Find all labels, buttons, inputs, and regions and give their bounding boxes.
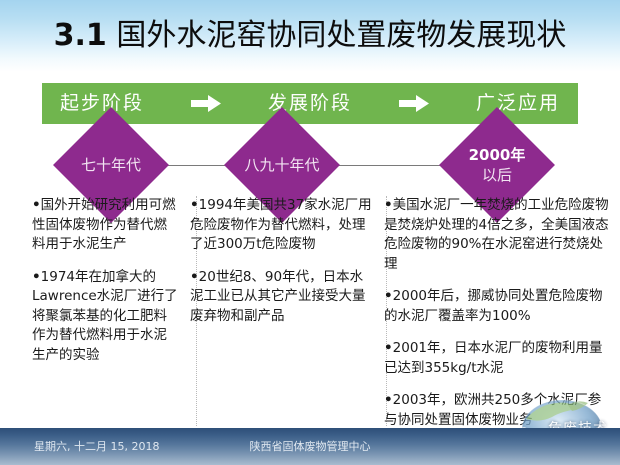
bullet-item: •2000年后，挪威协同处置危险废物的水泥厂覆盖率为100% bbox=[384, 287, 614, 326]
bullet-text: 1974年在加拿大的Lawrence水泥厂进行了将聚氯苯基的化工肥料作为替代燃料… bbox=[32, 269, 178, 363]
bullet-text: 20世纪8、90年代，日本水泥工业已从其它产业接受大量废弃物和副产品 bbox=[190, 269, 366, 324]
slide-canvas: 3.1 国外水泥窑协同处置废物发展现状 起步阶段 发展阶段 广泛应用 七十年代 … bbox=[0, 0, 620, 465]
bullet-text: 国外开始研究利用可燃性固体废物作为替代燃料用于水泥生产 bbox=[32, 197, 176, 252]
title-text: 国外水泥窑协同处置废物发展现状 bbox=[116, 18, 566, 53]
stage-label-1: 起步阶段 bbox=[60, 94, 144, 113]
bullet-item: •20世纪8、90年代，日本水泥工业已从其它产业接受大量废弃物和副产品 bbox=[190, 268, 376, 327]
bullet-text: 2000年后，挪威协同处置危险废物的水泥厂覆盖率为100% bbox=[384, 288, 603, 324]
timeline-connector bbox=[325, 165, 457, 166]
content-column-2: •1994年美国共37家水泥厂用危险废物作为替代燃料，处理了近300万t危险废物… bbox=[186, 196, 382, 432]
content-column-1: •国外开始研究利用可燃性固体废物作为替代燃料用于水泥生产 •1974年在加拿大的… bbox=[0, 196, 186, 432]
slide-footer: 星期六, 十二月 15, 2018 陕西省固体废物管理中心 bbox=[0, 428, 620, 465]
bullet-item: •1974年在加拿大的Lawrence水泥厂进行了将聚氯苯基的化工肥料作为替代燃… bbox=[32, 268, 180, 366]
bullet-text: 美国水泥厂一年焚烧的工业危险废物是焚烧炉处理的4倍之多，全美国液态危险废物的90… bbox=[384, 197, 609, 272]
timeline-node-2-label: 八九十年代 bbox=[230, 155, 334, 175]
footer-organization: 陕西省固体废物管理中心 bbox=[0, 440, 620, 453]
bullet-item: •2001年，日本水泥厂的废物利用量已达到355kg/t水泥 bbox=[384, 339, 614, 378]
bullet-dot: • bbox=[384, 340, 393, 356]
bullet-text: 1994年美国共37家水泥厂用危险废物作为替代燃料，处理了近300万t危险废物 bbox=[190, 197, 372, 252]
bullet-text: 2003年，欧洲共250多个水泥厂参与协同处置固体废物业务 bbox=[384, 392, 601, 428]
timeline-label-line: 八九十年代 bbox=[244, 156, 319, 174]
page-title: 3.1 国外水泥窑协同处置废物发展现状 bbox=[0, 16, 620, 56]
content-columns: •国外开始研究利用可燃性固体废物作为替代燃料用于水泥生产 •1974年在加拿大的… bbox=[0, 196, 620, 432]
timeline-label-line: 2000年 bbox=[469, 146, 526, 164]
slide-header: 3.1 国外水泥窑协同处置废物发展现状 bbox=[0, 0, 620, 72]
arrow-right-icon bbox=[191, 95, 221, 112]
timeline-node-3-label: 2000年 以后 bbox=[445, 145, 549, 185]
section-number: 3.1 bbox=[54, 18, 107, 53]
content-column-3: •美国水泥厂一年焚烧的工业危险废物是焚烧炉处理的4倍之多，全美国液态危险废物的9… bbox=[382, 196, 620, 432]
bullet-dot: • bbox=[384, 288, 393, 304]
timeline-label-line: 七十年代 bbox=[81, 156, 141, 174]
bullet-dot: • bbox=[190, 269, 199, 285]
bullet-item: •1994年美国共37家水泥厂用危险废物作为替代燃料，处理了近300万t危险废物 bbox=[190, 196, 376, 255]
bullet-item: •2003年，欧洲共250多个水泥厂参与协同处置固体废物业务 bbox=[384, 391, 614, 430]
timeline-node-1-label: 七十年代 bbox=[59, 155, 163, 175]
bullet-dot: • bbox=[190, 197, 199, 213]
bullet-dot: • bbox=[384, 392, 393, 408]
bullet-text: 2001年，日本水泥厂的废物利用量已达到355kg/t水泥 bbox=[384, 340, 603, 376]
bullet-dot: • bbox=[32, 197, 41, 213]
bullet-dot: • bbox=[32, 269, 41, 285]
bullet-item: •美国水泥厂一年焚烧的工业危险废物是焚烧炉处理的4倍之多，全美国液态危险废物的9… bbox=[384, 196, 614, 274]
stage-label-3: 广泛应用 bbox=[476, 94, 560, 113]
timeline-label-line: 以后 bbox=[482, 166, 512, 184]
bullet-item: •国外开始研究利用可燃性固体废物作为替代燃料用于水泥生产 bbox=[32, 196, 180, 255]
arrow-right-icon bbox=[399, 95, 429, 112]
bullet-dot: • bbox=[384, 197, 393, 213]
